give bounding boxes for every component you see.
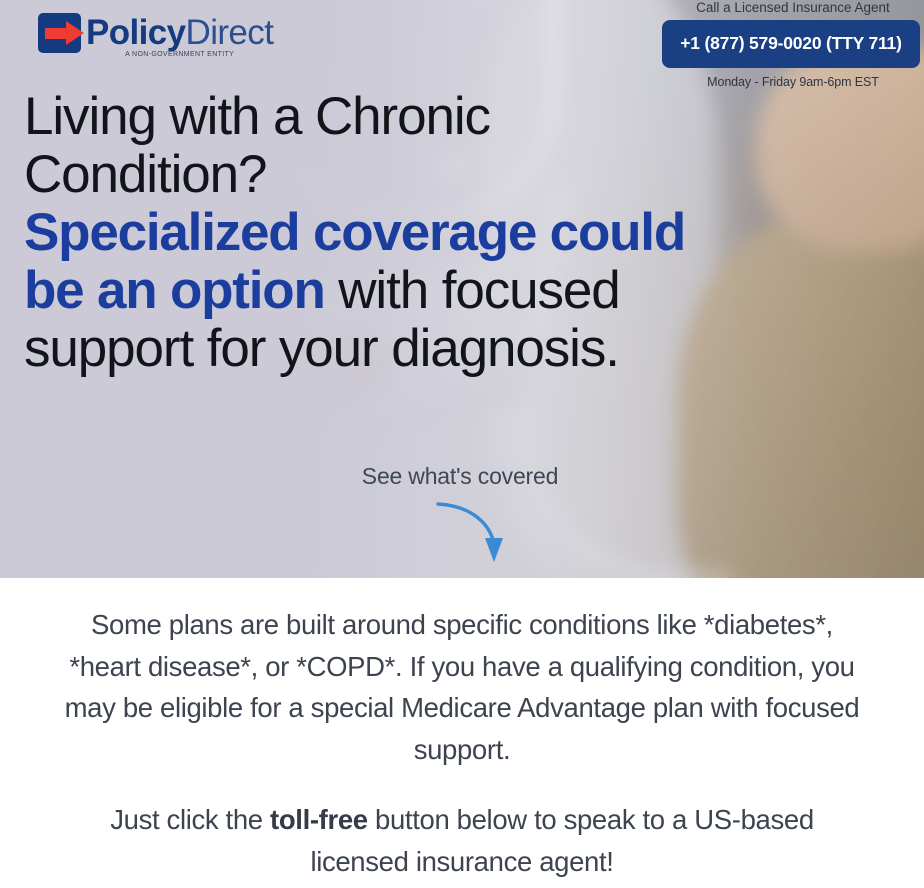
phone-cta-block: Call a Licensed Insurance Agent +1 (877)… — [662, 0, 924, 89]
paragraph2-pre: Just click the — [110, 804, 270, 835]
scroll-cue: See what's covered — [0, 463, 924, 490]
headline-line-2: Condition? — [24, 145, 266, 204]
hero-headline: Living with a ChronicCondition?Specializ… — [24, 88, 754, 378]
phone-call-label: Call a Licensed Insurance Agent — [662, 0, 924, 16]
body-copy-section: Some plans are built around specific con… — [0, 578, 924, 882]
logo-wordmark: PolicyDirect A NON-GOVERNMENT ENTITY — [86, 13, 273, 58]
scroll-cue-label: See what's covered — [362, 463, 558, 490]
logo-arrow-icon — [38, 13, 81, 53]
hero-section: PolicyDirect A NON-GOVERNMENT ENTITY Cal… — [0, 0, 924, 578]
phone-hours-label: Monday - Friday 9am-6pm EST — [662, 75, 924, 89]
phone-number-button[interactable]: +1 (877) 579-0020 (TTY 711) — [662, 20, 920, 68]
logo-word-policy: Policy — [86, 13, 186, 52]
curved-down-arrow-icon — [432, 498, 512, 570]
logo-word-direct: Direct — [186, 13, 274, 52]
paragraph2-post: button below to speak to a US-based lice… — [310, 804, 813, 877]
headline-line-1: Living with a Chronic — [24, 87, 490, 146]
site-logo[interactable]: PolicyDirect A NON-GOVERNMENT ENTITY — [38, 13, 273, 58]
logo-arrow-head — [66, 21, 84, 45]
body-paragraph-1: Some plans are built around specific con… — [58, 604, 866, 770]
paragraph2-bold: toll-free — [270, 804, 368, 835]
body-paragraph-2: Just click the toll-free button below to… — [58, 799, 866, 882]
